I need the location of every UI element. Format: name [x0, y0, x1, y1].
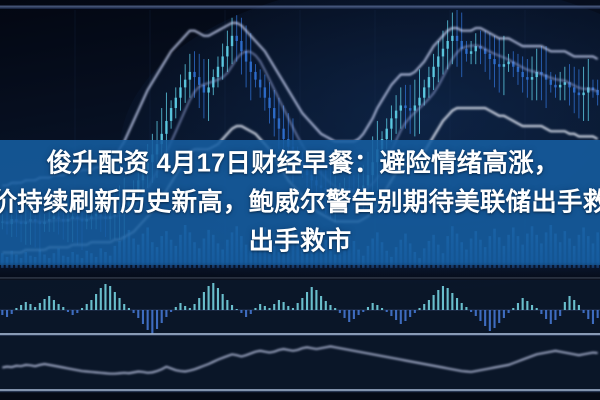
headline-banner: 俊升配资 4月17日财经早餐：避险情绪高涨， 价持续刷新历史新高，鲍威尔警告别期… [0, 140, 600, 265]
bottom-edge-strip [0, 392, 600, 400]
panel-divider-lower [0, 333, 600, 336]
bottom-divider [0, 389, 600, 392]
headline-line-2: 价持续刷新历史新高，鲍威尔警告别期待美联储出手救 [0, 183, 600, 222]
indicator-panel-background [0, 336, 600, 390]
top-divider [0, 6, 600, 9]
headline-line-3: 出手救市 [0, 222, 600, 261]
screenshot-root: 俊升配资 4月17日财经早餐：避险情绪高涨， 价持续刷新历史新高，鲍威尔警告别期… [0, 0, 600, 400]
headline-line-1: 俊升配资 4月17日财经早餐：避险情绪高涨， [0, 144, 600, 183]
headline-text-block: 俊升配资 4月17日财经早餐：避险情绪高涨， 价持续刷新历史新高，鲍威尔警告别期… [0, 144, 600, 261]
panel-divider-upper [0, 277, 600, 280]
macd-panel-background [0, 280, 600, 333]
